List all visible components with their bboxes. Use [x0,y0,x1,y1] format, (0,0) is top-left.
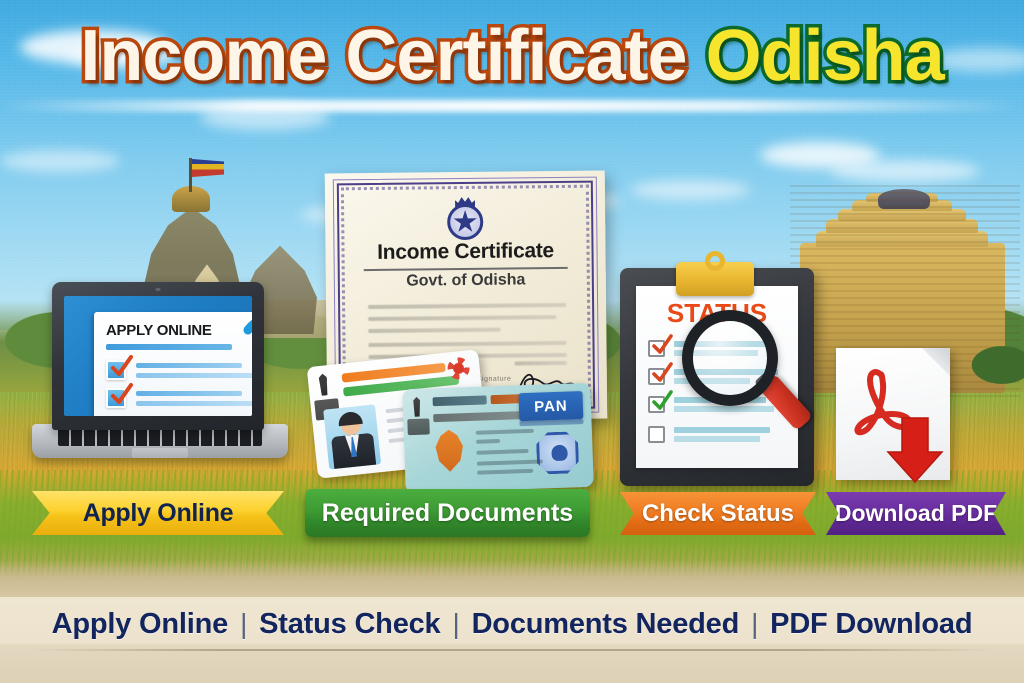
temple-flag-icon [192,159,224,177]
banner-check-status[interactable]: Check Status [620,492,816,535]
footer-separator: | [239,608,248,640]
laptop-lid: APPLY ONLINE [52,282,264,430]
footer-separator: | [750,608,759,640]
card-text-line [476,429,534,435]
download-arrow-icon [884,416,946,484]
certificate-heading: Income Certificate [325,239,605,266]
checkmark-icon [108,382,134,408]
pdf-download-illustration [836,348,964,486]
checkbox[interactable] [648,426,665,443]
card-text-line [476,439,500,444]
emblem-icon [315,373,331,396]
banner-label: Required Documents [322,499,573,528]
title-part-highlight: Odisha [706,16,944,96]
laptop-screen: APPLY ONLINE [64,296,252,416]
laptop-apply-online-illustration: APPLY ONLINE [28,282,298,482]
emblem-icon [411,397,424,417]
cloud-icon [830,160,980,182]
banner-download-pdf[interactable]: Download PDF [826,492,1006,535]
pan-badge: PAN [518,391,583,421]
cloud-streak [0,100,1024,112]
government-emblem-icon [442,196,488,242]
national-emblem-icon [430,429,469,472]
magnifying-glass-icon [682,310,806,446]
laptop-keyboard [58,428,262,446]
form-row [106,360,246,382]
certificate-subheading: Govt. of Odisha [326,271,606,292]
checkmark-icon [650,389,674,413]
checkmark-icon [108,354,134,380]
required-documents-illustration: PAN [300,358,600,490]
cloud-icon [630,180,750,200]
banner-required-documents[interactable]: Required Documents [305,489,590,537]
avatar [323,404,381,469]
card-text-line [477,459,543,465]
footer-item-status-check[interactable]: Status Check [248,608,451,641]
status-clipboard-illustration: STATUS [620,262,814,486]
checkmark-icon [650,361,674,385]
form-heading: APPLY ONLINE [106,322,212,339]
card-text-line [477,469,533,475]
banner-apply-online[interactable]: Apply Online [32,491,284,535]
footer-item-pdf-download[interactable]: PDF Download [759,608,983,641]
online-form: APPLY ONLINE [94,312,252,416]
checkmark-icon [650,333,674,357]
page-fold-corner [922,348,950,376]
card-logo-icon [407,418,430,435]
footer-separator: | [451,608,460,640]
pan-badge-subtitle [519,419,583,426]
banner-label: Download PDF [835,500,997,527]
banner-label: Check Status [642,500,794,528]
banner-label: Apply Online [83,499,234,528]
title-part-primary: Income Certificate [80,16,686,96]
official-seal-icon [536,431,579,474]
card-text-line [476,449,528,455]
card-text-bar [433,395,487,406]
footer-item-documents-needed[interactable]: Documents Needed [461,608,751,641]
footer-links: Apply Online | Status Check | Documents … [0,597,1024,651]
infographic-canvas: Income Certificate Odisha Income Certifi… [0,0,1024,683]
laptop-trackpad [132,448,188,458]
page-title: Income Certificate Odisha [0,14,1024,98]
webcam-icon [156,288,161,291]
footer-item-apply-online[interactable]: Apply Online [41,608,239,641]
form-heading-underline [106,344,232,350]
pan-card: PAN [402,383,594,493]
form-row [106,388,246,410]
dirt-strip [0,560,1024,602]
wifi-icon [240,300,252,356]
clipboard-ring-icon [705,251,725,271]
clipboard-clamp [676,262,754,296]
